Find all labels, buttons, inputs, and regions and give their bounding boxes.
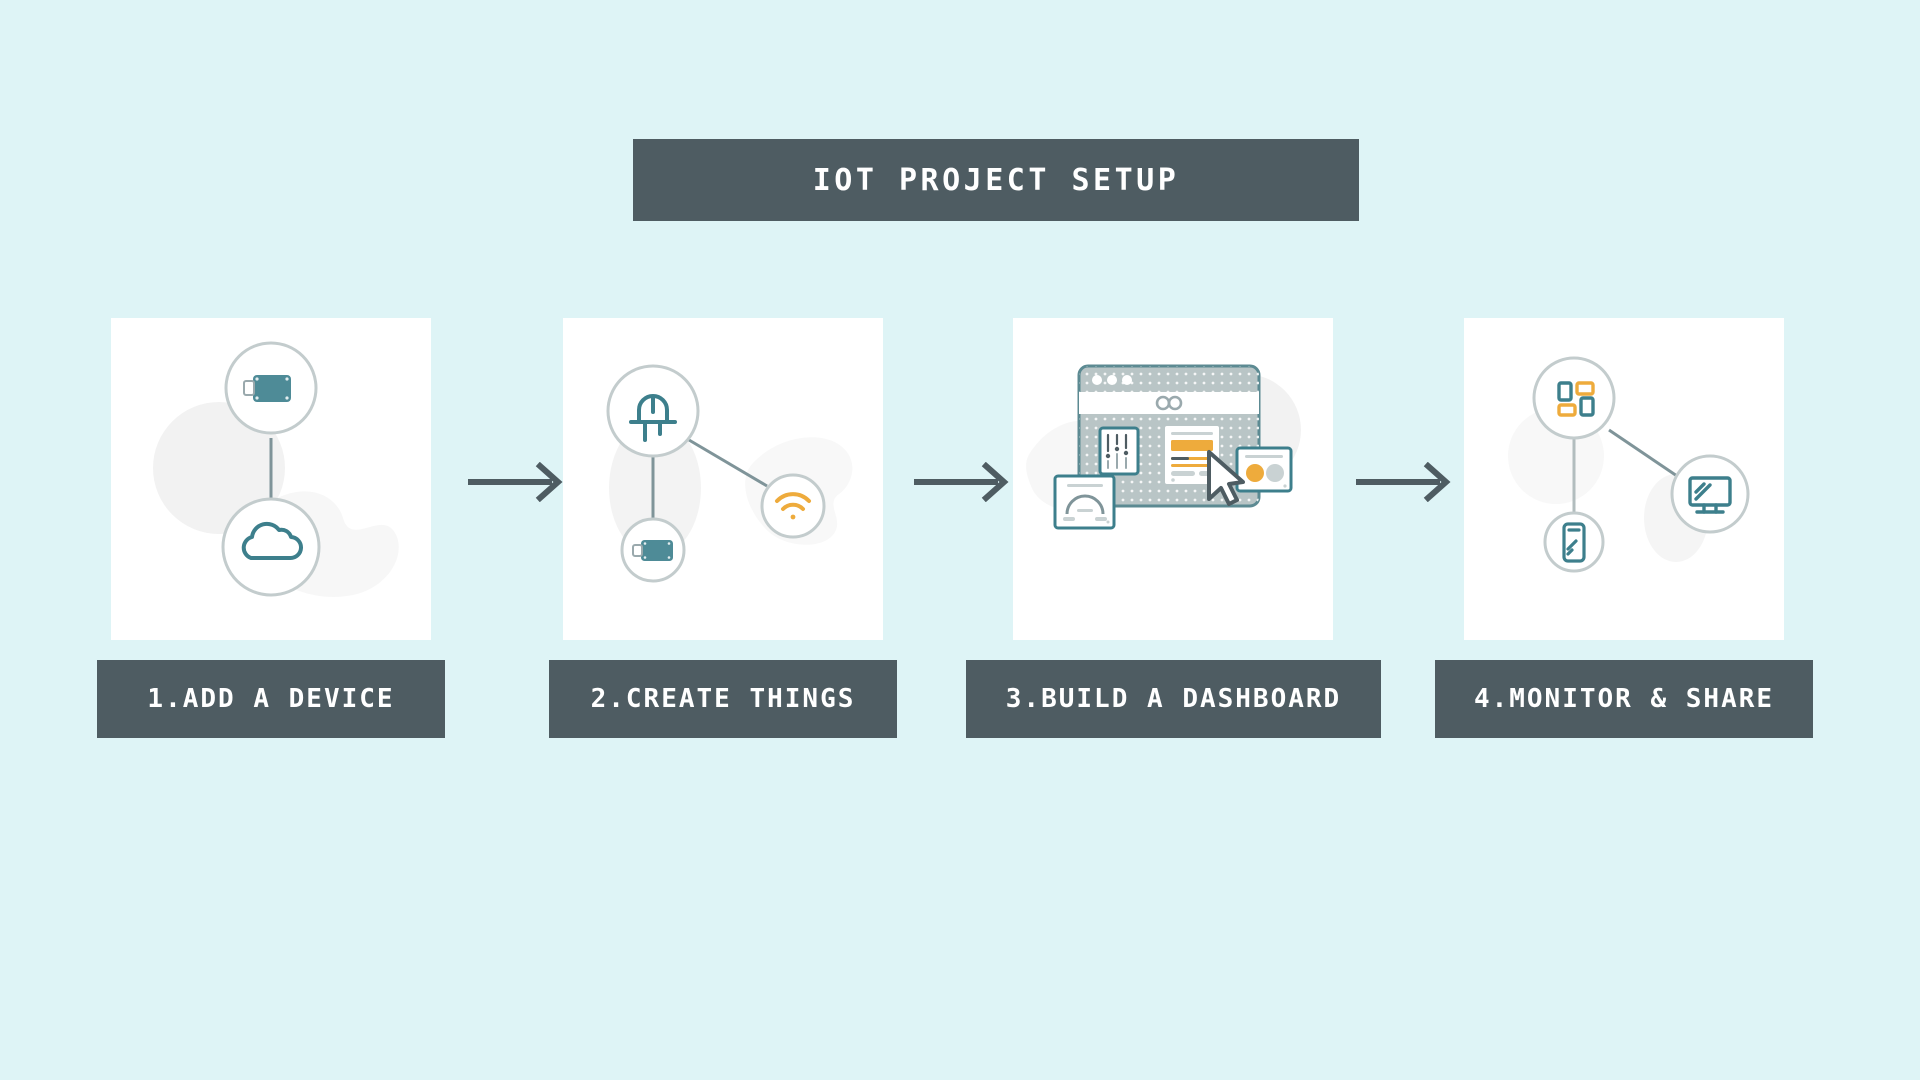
grid-node-circle xyxy=(1534,358,1614,438)
step-card-4[interactable]: 4.MONITOR & SHARE xyxy=(1450,318,1798,738)
step-4-label: 4.MONITOR & SHARE xyxy=(1474,684,1774,714)
step-2-label: 2.CREATE THINGS xyxy=(591,684,856,714)
gauge-widget-icon xyxy=(1055,476,1114,528)
step-2-illustration-card xyxy=(563,318,883,640)
step-card-2[interactable]: 2.CREATE THINGS xyxy=(549,318,897,738)
page-title: IOT PROJECT SETUP xyxy=(813,163,1180,198)
step-card-3[interactable]: 3.BUILD A DASHBOARD xyxy=(999,318,1347,738)
step-card-1[interactable]: 1.ADD A DEVICE xyxy=(97,318,445,738)
step-4-label-bar: 4.MONITOR & SHARE xyxy=(1435,660,1813,738)
connector-line-grid-monitor xyxy=(1609,430,1680,478)
sliders-widget-icon xyxy=(1100,428,1138,474)
monitor-node-circle xyxy=(1672,456,1748,532)
toggle-widget-icon xyxy=(1237,448,1291,491)
step-3-label-bar: 3.BUILD A DASHBOARD xyxy=(966,660,1381,738)
step-3-illustration-card xyxy=(1013,318,1333,640)
step-1-label: 1.ADD A DEVICE xyxy=(147,684,394,714)
step-3-label: 3.BUILD A DASHBOARD xyxy=(1006,684,1341,714)
step-2-label-bar: 2.CREATE THINGS xyxy=(549,660,897,738)
steps-row: 1.ADD A DEVICE xyxy=(0,318,1920,768)
page-title-banner: IOT PROJECT SETUP xyxy=(633,139,1359,221)
cloud-node-circle xyxy=(223,499,319,595)
led-board-wifi-illustration xyxy=(563,318,883,640)
step-4-illustration-card xyxy=(1464,318,1784,640)
device-to-cloud-illustration xyxy=(111,318,431,640)
step-1-illustration-card xyxy=(111,318,431,640)
step-1-label-bar: 1.ADD A DEVICE xyxy=(97,660,445,738)
diagram-canvas: IOT PROJECT SETUP xyxy=(0,0,1920,1080)
browser-dashboard-illustration xyxy=(1013,318,1333,640)
dashboard-phone-monitor-illustration xyxy=(1464,318,1784,640)
